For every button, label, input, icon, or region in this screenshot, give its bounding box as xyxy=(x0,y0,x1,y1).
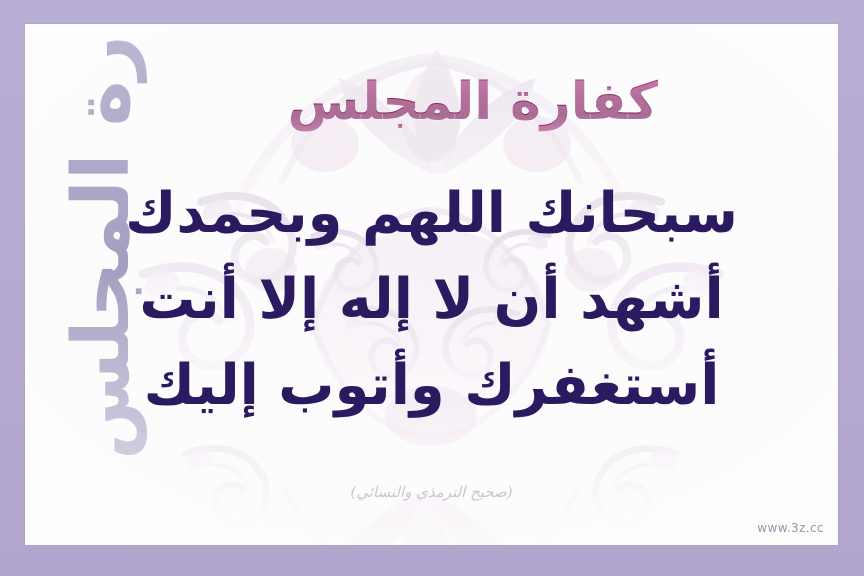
white-card-panel: كفارة المجلس كفارة المجلس سبحانك اللهم و… xyxy=(25,24,838,545)
poster-root: كفارة المجلس كفارة المجلس سبحانك اللهم و… xyxy=(0,0,864,576)
hadith-source-attribution: (صحيح الترمذي والنسائي) xyxy=(25,483,838,501)
dua-line-2: أشهد أن لا إله إلا أنت xyxy=(25,272,838,328)
page-title: كفارة المجلس xyxy=(288,72,658,132)
dua-line-1: سبحانك اللهم وبحمدك xyxy=(25,186,838,242)
dua-line-3: أستغفرك وأتوب إليك xyxy=(25,358,838,414)
site-watermark: www.3z.cc xyxy=(757,521,824,535)
supplication-text-block: سبحانك اللهم وبحمدك أشهد أن لا إله إلا أ… xyxy=(25,186,838,414)
